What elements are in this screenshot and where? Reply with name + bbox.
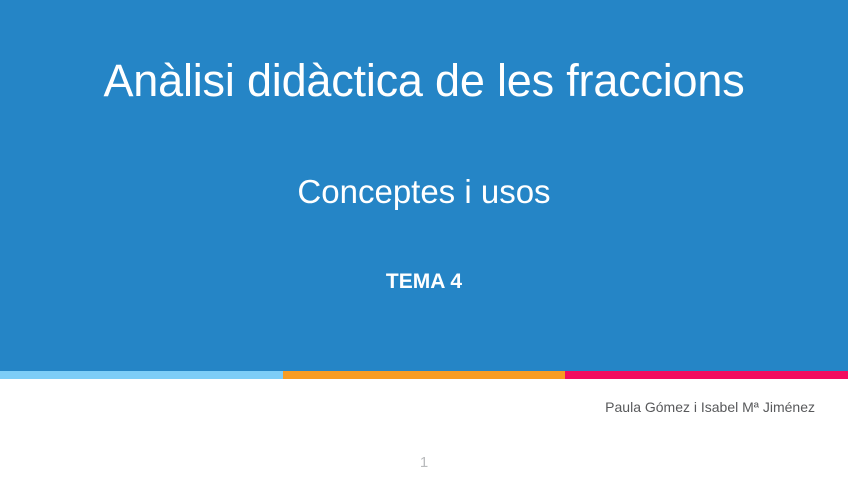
accent-segment-pink: [565, 371, 848, 379]
presentation-slide: Anàlisi didàctica de les fraccions Conce…: [0, 0, 848, 477]
accent-segment-orange: [283, 371, 565, 379]
slide-subtitle: Conceptes i usos: [0, 174, 848, 210]
title-panel-content: Anàlisi didàctica de les fraccions Conce…: [0, 0, 848, 371]
accent-segment-light-blue: [0, 371, 283, 379]
page-number: 1: [0, 454, 848, 471]
accent-color-bar: [0, 371, 848, 379]
title-panel: Anàlisi didàctica de les fraccions Conce…: [0, 0, 848, 371]
topic-label: TEMA 4: [0, 270, 848, 293]
authors-text: Paula Gómez i Isabel Mª Jiménez: [605, 399, 815, 415]
slide-title: Anàlisi didàctica de les fraccions: [0, 56, 848, 106]
